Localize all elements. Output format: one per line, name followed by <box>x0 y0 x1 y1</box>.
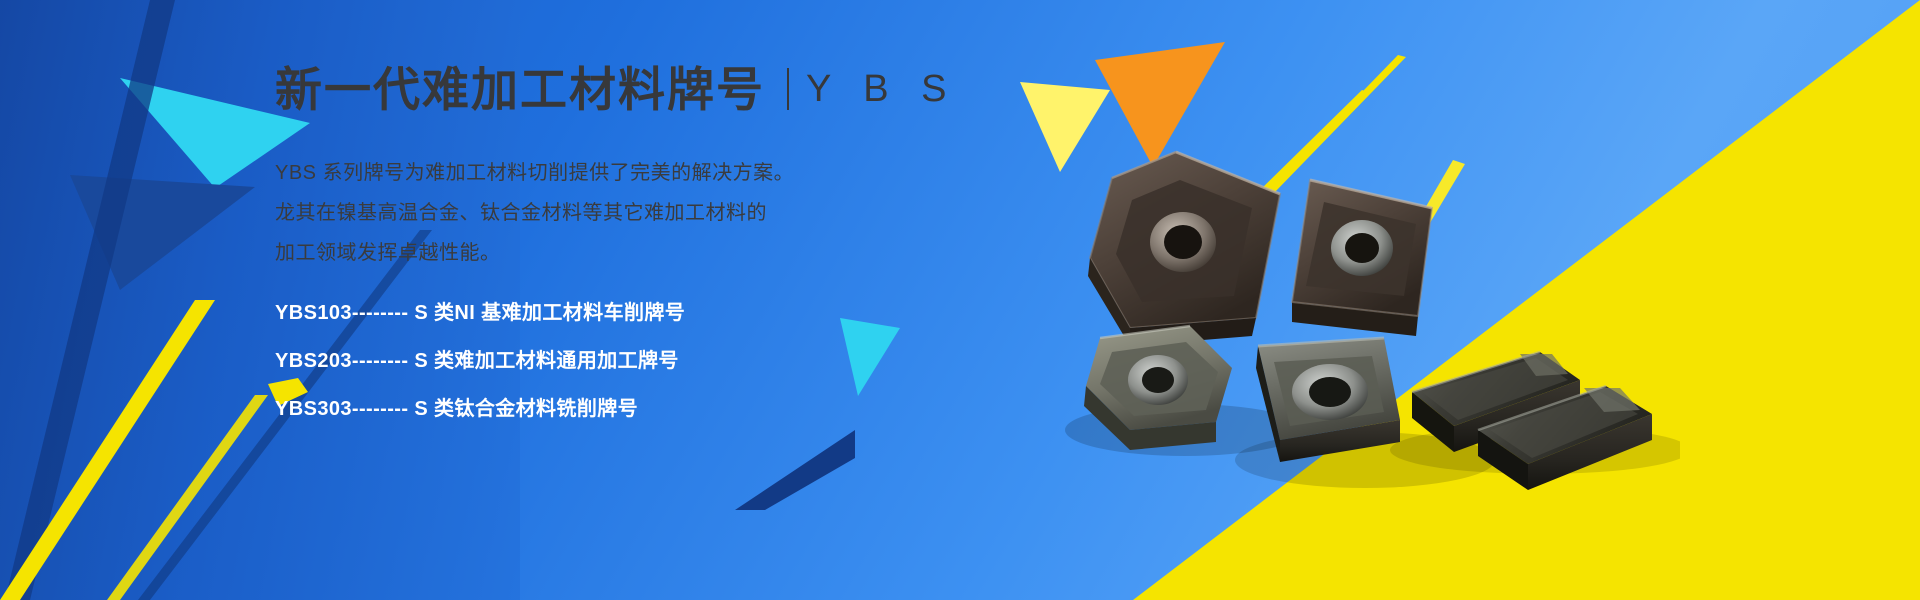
square-snmg-insert <box>1292 180 1432 336</box>
carbide-inserts-photo <box>980 130 1680 550</box>
description-line-2: 龙其在镍基高温合金、钛合金材料等其它难加工材料的 <box>275 202 1055 225</box>
description-paragraph: YBS 系列牌号为难加工材料切削提供了完美的解决方案。 龙其在镍基高温合金、钛合… <box>275 162 1055 265</box>
sku-item-ybs103: YBS103-------- S 类NI 基难加工材料车削牌号 <box>275 302 1055 324</box>
page-title: 新一代难加工材料牌号 <box>275 66 765 113</box>
title-brand: Y B S <box>806 70 957 108</box>
copy-block: 新一代难加工材料牌号 Y B S YBS 系列牌号为难加工材料切削提供了完美的解… <box>275 58 1055 446</box>
sku-item-ybs203: YBS203-------- S 类难加工材料通用加工牌号 <box>275 350 1055 372</box>
description-line-3: 加工领域发挥卓越性能。 <box>275 242 1055 265</box>
banner-root: 新一代难加工材料牌号 Y B S YBS 系列牌号为难加工材料切削提供了完美的解… <box>0 0 1920 600</box>
title-separator-icon <box>787 68 789 110</box>
sku-item-ybs303: YBS303-------- S 类钛合金材料铣削牌号 <box>275 398 1055 420</box>
square-milling-insert <box>1256 338 1400 462</box>
title-row: 新一代难加工材料牌号 Y B S <box>275 58 1055 120</box>
description-line-1: YBS 系列牌号为难加工材料切削提供了完美的解决方案。 <box>275 162 1055 185</box>
trigon-wnmg-insert <box>1088 152 1280 346</box>
sku-list: YBS103-------- S 类NI 基难加工材料车削牌号 YBS203--… <box>275 302 1055 420</box>
